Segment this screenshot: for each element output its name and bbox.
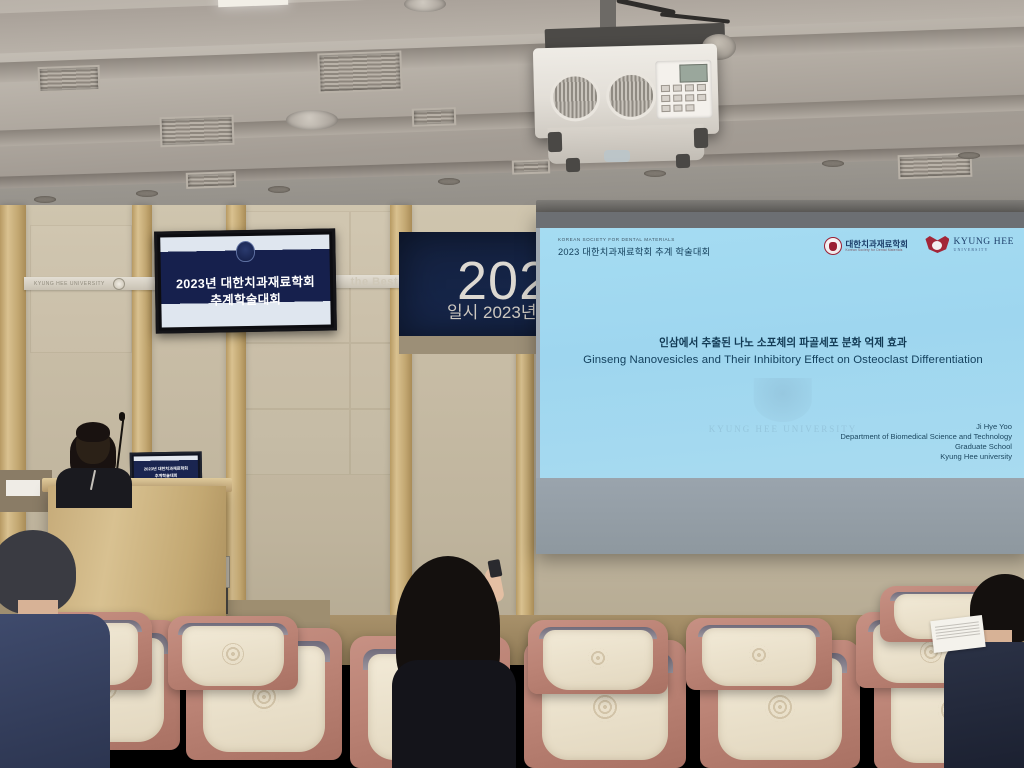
projector-button-11[interactable]	[685, 104, 694, 111]
auditorium-seat	[686, 618, 832, 690]
author-university: Kyung Hee university	[840, 452, 1012, 462]
projector-button-3[interactable]	[685, 84, 694, 91]
kyung-hee-crest-icon	[925, 236, 949, 253]
hvac-vent-1	[38, 65, 101, 93]
recessed-light-3	[268, 186, 290, 193]
projector-button-4[interactable]	[697, 84, 706, 91]
projector-vent-right	[606, 71, 657, 120]
wall-mounted-monitor: 2023년 대한치과재료학회 추계학술대회	[154, 228, 337, 333]
slide-title-korean: 인삼에서 추출된 나노 소포체의 파골세포 분화 억제 효과	[540, 335, 1024, 350]
recessed-light-6	[822, 160, 844, 167]
projector-foot-front-right	[676, 154, 690, 168]
projector-button-8[interactable]	[697, 94, 706, 101]
wall-pilaster-5	[516, 345, 534, 615]
slide-watermark: KYUNG HEE UNIVERSITY	[709, 378, 858, 434]
wall-tile	[30, 289, 132, 353]
author-department: Department of Biomedical Science and Tec…	[840, 432, 1012, 442]
side-paper-note	[6, 480, 40, 496]
hvac-vent-4	[412, 107, 457, 127]
wall-pilaster-2	[132, 205, 152, 465]
ceiling-beam-3	[0, 92, 1024, 148]
tooth-shield-icon	[824, 237, 842, 255]
presentation-slide: KYUNG HEE UNIVERSITY KOREAN SOCIETY FOR …	[540, 228, 1024, 478]
wall-band-slogan: the Best	[351, 276, 398, 288]
slide-title-english: Ginseng Nanovesicles and Their Inhibitor…	[540, 354, 1024, 366]
hvac-vent-2	[317, 51, 402, 94]
projector-button-7[interactable]	[685, 94, 694, 101]
conference-room-photo: KYUNG HEE UNIVERSITY the Best 2023년 일시 2…	[0, 0, 1024, 768]
ceiling-light-2	[286, 110, 338, 130]
auditorium-seat	[528, 620, 668, 694]
monitor-line-2: 추계학술대회	[161, 288, 330, 310]
projector-button-5[interactable]	[661, 95, 670, 102]
projector-foot-right	[694, 128, 709, 148]
projector-button-2[interactable]	[673, 85, 682, 92]
program-sheet	[930, 615, 986, 653]
auditorium-seat	[168, 616, 298, 690]
recessed-light-7	[958, 152, 980, 159]
author-name: Ji Hye Yoo	[840, 422, 1012, 432]
wall-band-text: KYUNG HEE UNIVERSITY	[34, 281, 105, 287]
projector-button-10[interactable]	[673, 105, 682, 112]
recessed-light-5	[644, 170, 666, 177]
wall-tile	[244, 343, 350, 409]
podium-monitor-line-1: 2023년 대한치과재료학회	[144, 465, 188, 472]
projection-screen: KYUNG HEE UNIVERSITY KOREAN SOCIETY FOR …	[536, 212, 1024, 554]
university-emblem-icon	[113, 278, 125, 290]
projector-lens	[604, 150, 630, 162]
university-logo: KYUNG HEE UNIVERSITY	[925, 236, 1014, 253]
hvac-vent-6	[512, 159, 550, 174]
hvac-vent-3	[159, 115, 234, 148]
projector-foot-front-left	[566, 158, 580, 172]
projector-lcd-display	[679, 64, 707, 83]
screen-unused-area	[536, 478, 1024, 554]
projector-button-6[interactable]	[673, 95, 682, 102]
attendee-right-body	[944, 642, 1024, 768]
recessed-light-4	[438, 178, 460, 185]
society-emblem-icon	[235, 241, 254, 262]
recessed-light-2	[136, 190, 158, 197]
author-school: Graduate School	[840, 442, 1012, 452]
slide-organization-line: 2023 대한치과재료학회 추계 학술대회	[558, 244, 710, 258]
speaker-hair-front	[76, 422, 110, 442]
university-logo-name: KYUNG HEE	[953, 237, 1014, 247]
slide-kicker-text: KOREAN SOCIETY FOR DENTAL MATERIALS	[558, 237, 675, 242]
projector-button-9[interactable]	[661, 105, 670, 112]
ceiling	[0, 0, 1024, 215]
projector-vent-left	[550, 73, 601, 122]
watermark-text: KYUNG HEE UNIVERSITY	[709, 424, 858, 434]
attendee-left-suit	[0, 614, 110, 768]
slide-author-block: Ji Hye Yoo Department of Biomedical Scie…	[840, 422, 1012, 462]
projector-button-1[interactable]	[661, 85, 670, 92]
screen-top-band	[536, 212, 1024, 228]
hvac-vent-7	[186, 171, 237, 189]
monitor-screen: 2023년 대한치과재료학회 추계학술대회	[160, 235, 331, 328]
recessed-light-1	[34, 196, 56, 203]
attendee-center-body	[392, 660, 516, 768]
university-logo-subtitle: UNIVERSITY	[953, 248, 1014, 252]
watermark-crest-icon	[754, 378, 812, 422]
projector-foot-left	[548, 132, 563, 152]
society-logo-name-en: Korean Society for Dental Materials	[845, 249, 908, 252]
wall-tile	[244, 409, 350, 475]
society-logo: 대한치과재료학회 Korean Society for Dental Mater…	[824, 237, 908, 255]
